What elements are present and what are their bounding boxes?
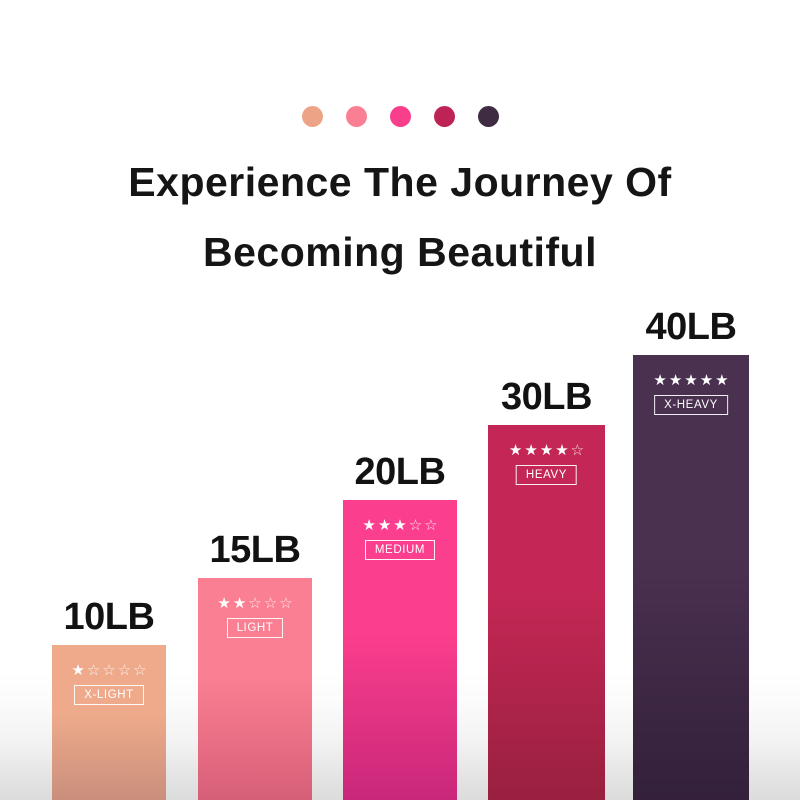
bar-20lb-group[interactable]: 20LB★★★☆☆MEDIUM: [343, 440, 457, 800]
bar-20lb-weight-label: 20LB: [355, 451, 446, 494]
star-filled-icon: ★: [509, 443, 522, 458]
star-filled-icon: ★: [669, 373, 682, 388]
resistance-bar-chart: 10LB★☆☆☆☆X-LIGHT15LB★★☆☆☆LIGHT20LB★★★☆☆M…: [0, 0, 800, 800]
bar-20lb-star-rating: ★★★☆☆: [362, 518, 437, 533]
bar-30lb-rating-block: ★★★★☆HEAVY: [496, 443, 597, 485]
star-filled-icon: ★: [700, 373, 713, 388]
star-empty-icon: ☆: [279, 596, 292, 611]
bar-15lb-star-rating: ★★☆☆☆: [217, 596, 292, 611]
bar-30lb-weight-label: 30LB: [501, 376, 592, 419]
star-filled-icon: ★: [715, 373, 728, 388]
star-empty-icon: ☆: [571, 443, 584, 458]
bar-10lb-rating-block: ★☆☆☆☆X-LIGHT: [60, 663, 158, 705]
star-empty-icon: ☆: [264, 596, 277, 611]
star-filled-icon: ★: [653, 373, 666, 388]
star-empty-icon: ☆: [424, 518, 437, 533]
bar-30lb-group[interactable]: 30LB★★★★☆HEAVY: [488, 365, 605, 800]
star-filled-icon: ★: [684, 373, 697, 388]
bar-30lb-tier-badge: HEAVY: [516, 465, 577, 485]
bar-10lb-weight-label: 10LB: [64, 596, 155, 639]
bar-30lb-star-rating: ★★★★☆: [509, 443, 584, 458]
bar-20lb[interactable]: ★★★☆☆MEDIUM: [343, 500, 457, 800]
star-filled-icon: ★: [362, 518, 375, 533]
bar-15lb-tier-badge: LIGHT: [227, 618, 284, 638]
star-filled-icon: ★: [378, 518, 391, 533]
star-filled-icon: ★: [217, 596, 230, 611]
bar-15lb-group[interactable]: 15LB★★☆☆☆LIGHT: [198, 518, 312, 800]
bar-40lb-rating-block: ★★★★★X-HEAVY: [641, 373, 741, 415]
star-filled-icon: ★: [233, 596, 246, 611]
bar-10lb[interactable]: ★☆☆☆☆X-LIGHT: [52, 645, 166, 800]
star-filled-icon: ★: [393, 518, 406, 533]
bar-10lb-group[interactable]: 10LB★☆☆☆☆X-LIGHT: [52, 585, 166, 800]
product-infographic-poster: Experience The Journey Of Becoming Beaut…: [0, 0, 800, 800]
star-filled-icon: ★: [71, 663, 84, 678]
bar-15lb[interactable]: ★★☆☆☆LIGHT: [198, 578, 312, 800]
bar-15lb-rating-block: ★★☆☆☆LIGHT: [206, 596, 304, 638]
star-empty-icon: ☆: [409, 518, 422, 533]
star-filled-icon: ★: [555, 443, 568, 458]
star-empty-icon: ☆: [133, 663, 146, 678]
star-empty-icon: ☆: [118, 663, 131, 678]
bar-15lb-weight-label: 15LB: [210, 529, 301, 572]
star-empty-icon: ☆: [102, 663, 115, 678]
bar-20lb-tier-badge: MEDIUM: [365, 540, 435, 560]
bar-40lb[interactable]: ★★★★★X-HEAVY: [633, 355, 749, 800]
bar-10lb-tier-badge: X-LIGHT: [74, 685, 144, 705]
bar-40lb-group[interactable]: 40LB★★★★★X-HEAVY: [633, 295, 749, 800]
bar-30lb[interactable]: ★★★★☆HEAVY: [488, 425, 605, 800]
star-empty-icon: ☆: [87, 663, 100, 678]
bar-40lb-tier-badge: X-HEAVY: [654, 395, 728, 415]
bar-40lb-weight-label: 40LB: [646, 306, 737, 349]
bar-10lb-star-rating: ★☆☆☆☆: [71, 663, 146, 678]
star-empty-icon: ☆: [248, 596, 261, 611]
bar-20lb-rating-block: ★★★☆☆MEDIUM: [351, 518, 449, 560]
bar-40lb-star-rating: ★★★★★: [653, 373, 728, 388]
star-filled-icon: ★: [524, 443, 537, 458]
star-filled-icon: ★: [540, 443, 553, 458]
